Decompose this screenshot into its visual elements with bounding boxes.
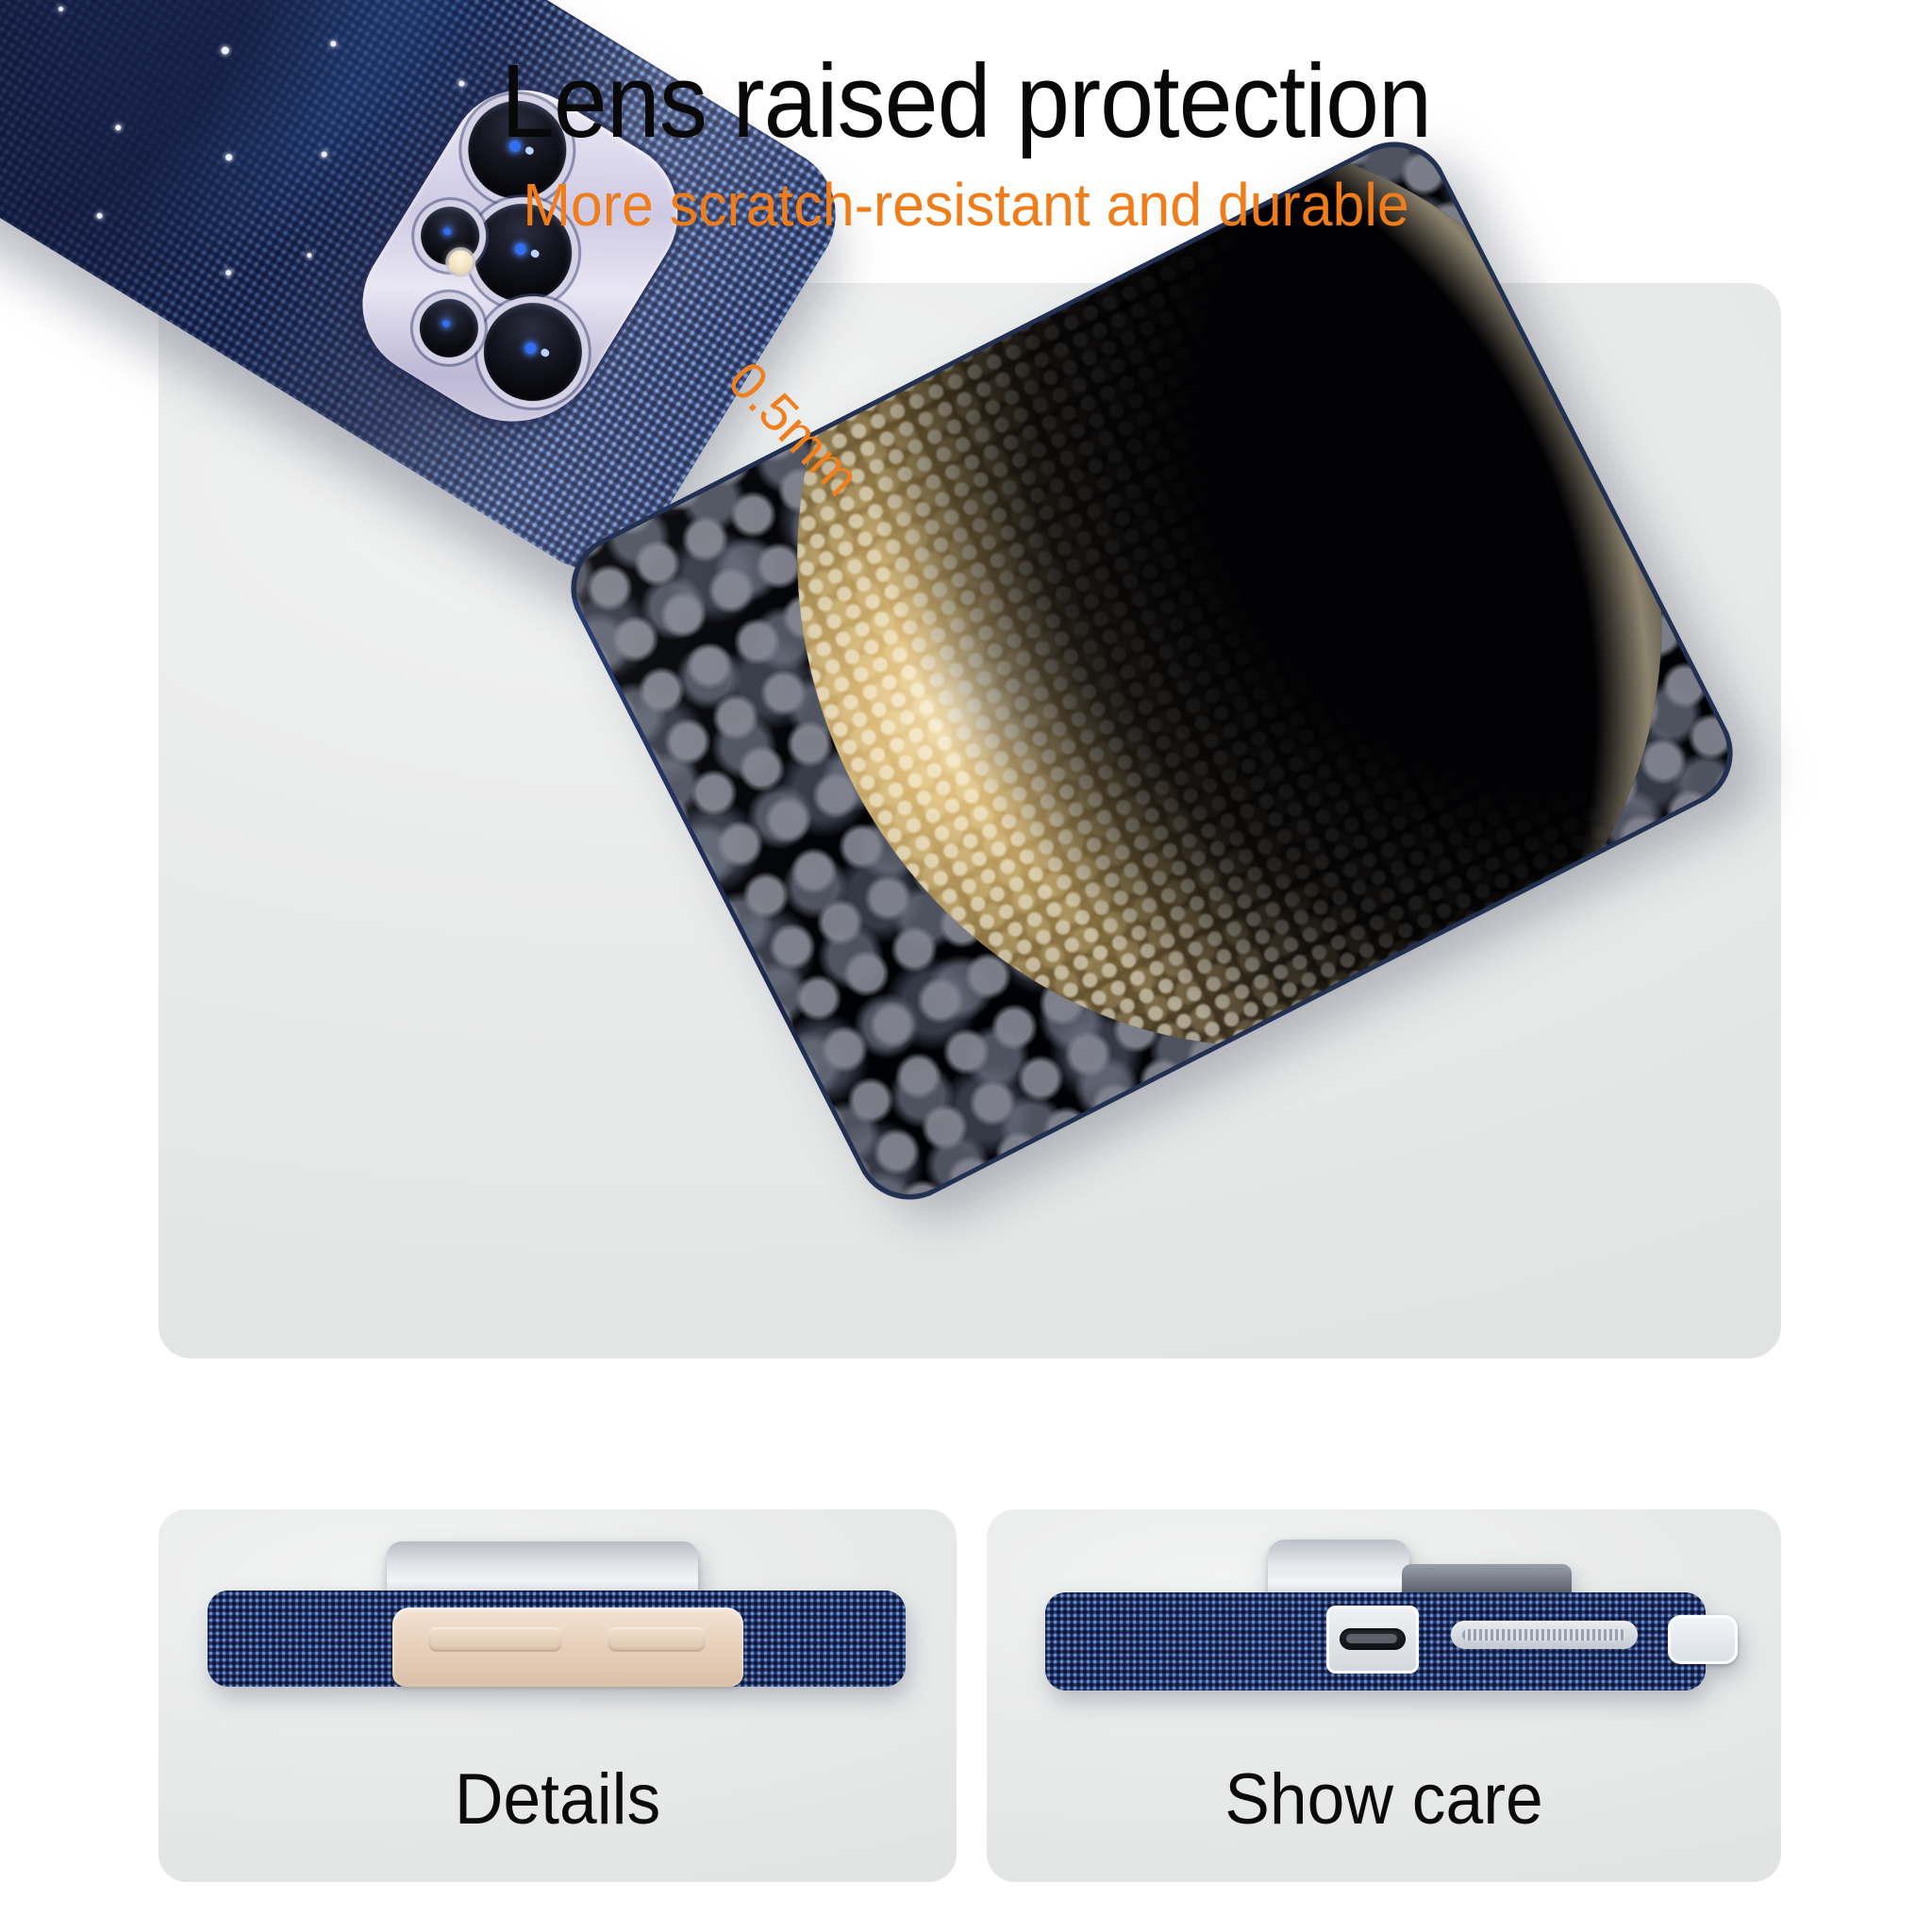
show-care-card-caption: Show care [1010,1758,1757,1840]
usb-c-connector [1340,1628,1406,1650]
usb-c-port-cutout [1326,1606,1419,1674]
volume-button-cutout [392,1607,743,1687]
power-button [608,1627,706,1652]
camera-bump-silhouette [1268,1540,1409,1598]
spen-slot-cutout [1668,1615,1738,1664]
details-card-caption: Details [182,1758,932,1840]
show-care-card[interactable]: Show care [987,1509,1781,1882]
camera-bump-silhouette [387,1541,698,1596]
product-feature-page: Lens raised protection More scratch-resi… [0,0,1932,1932]
details-card[interactable]: Details [158,1509,957,1882]
volume-up-button [428,1627,562,1652]
speaker-grille-cutout [1451,1621,1638,1649]
case-side-profile [208,1591,906,1687]
page-title: Lens raised protection [68,49,1865,155]
page-subtitle: More scratch-resistant and durable [48,175,1884,236]
case-bottom-profile [1045,1592,1706,1690]
